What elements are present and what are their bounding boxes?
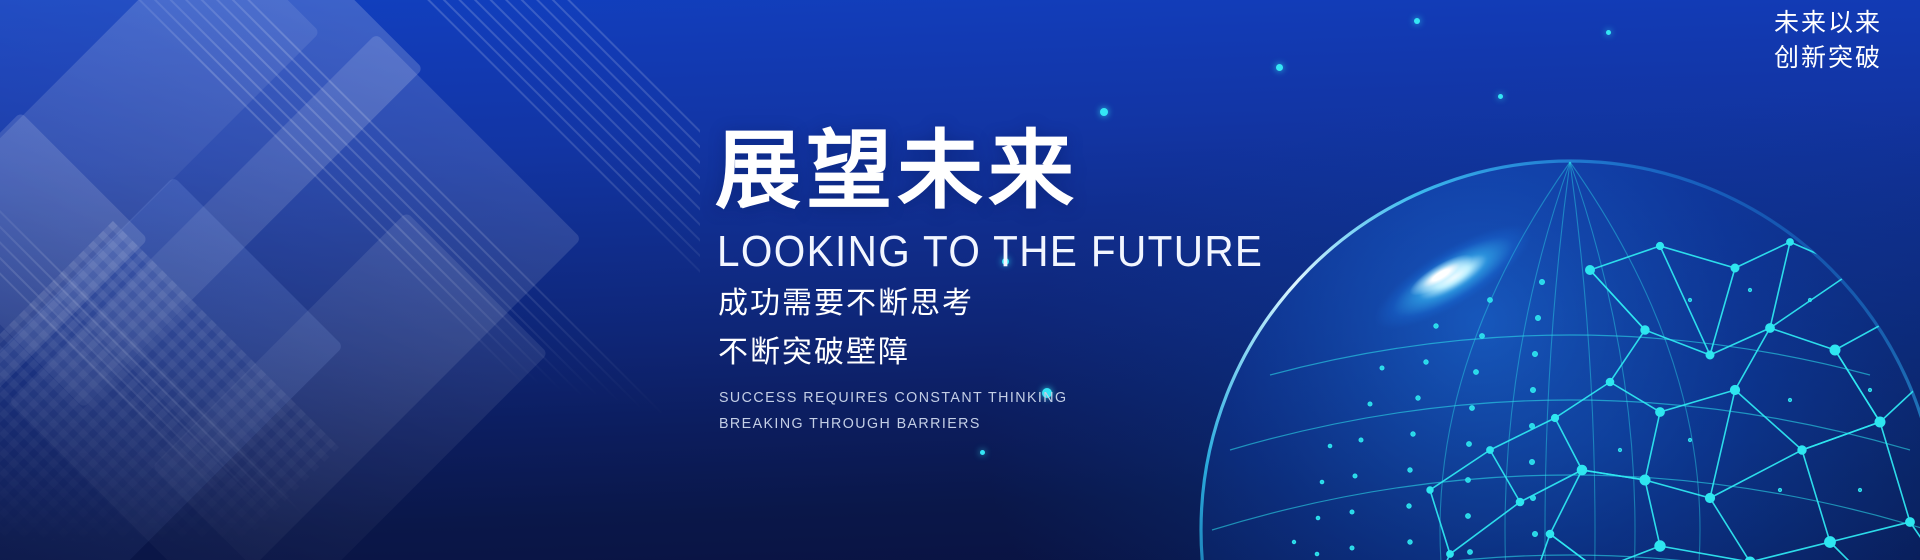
subhead-english-block: SUCCESS REQUIRES CONSTANT THINKING BREAK… <box>715 385 1475 438</box>
floating-dot <box>980 450 985 455</box>
left-geometric-decoration <box>0 0 700 560</box>
headline-chinese: 展望未来 <box>715 128 1475 216</box>
floating-dot <box>1498 94 1503 99</box>
corner-slogan-line-2: 创新突破 <box>1774 41 1882 76</box>
corner-slogan-line-1: 未来以来 <box>1774 6 1882 41</box>
floating-dot <box>1100 108 1108 116</box>
banner-hero: 未来以来 创新突破 展望未来 LOOKING TO THE FUTURE 成功需… <box>0 0 1920 560</box>
floating-dot <box>1414 18 1420 24</box>
hero-copy-block: 展望未来 LOOKING TO THE FUTURE 成功需要不断思考 不断突破… <box>715 128 1475 437</box>
corner-slogan: 未来以来 创新突破 <box>1774 6 1882 75</box>
subhead-english-line-1: SUCCESS REQUIRES CONSTANT THINKING <box>719 385 1437 411</box>
headline-english: LOOKING TO THE FUTURE <box>717 230 1414 274</box>
floating-dot <box>1606 30 1611 35</box>
subhead-english-line-2: BREAKING THROUGH BARRIERS <box>719 411 1437 437</box>
subhead-chinese-line-2: 不断突破壁障 <box>718 333 1475 373</box>
floating-dot <box>1276 64 1283 71</box>
subhead-chinese-line-1: 成功需要不断思考 <box>718 284 1475 324</box>
